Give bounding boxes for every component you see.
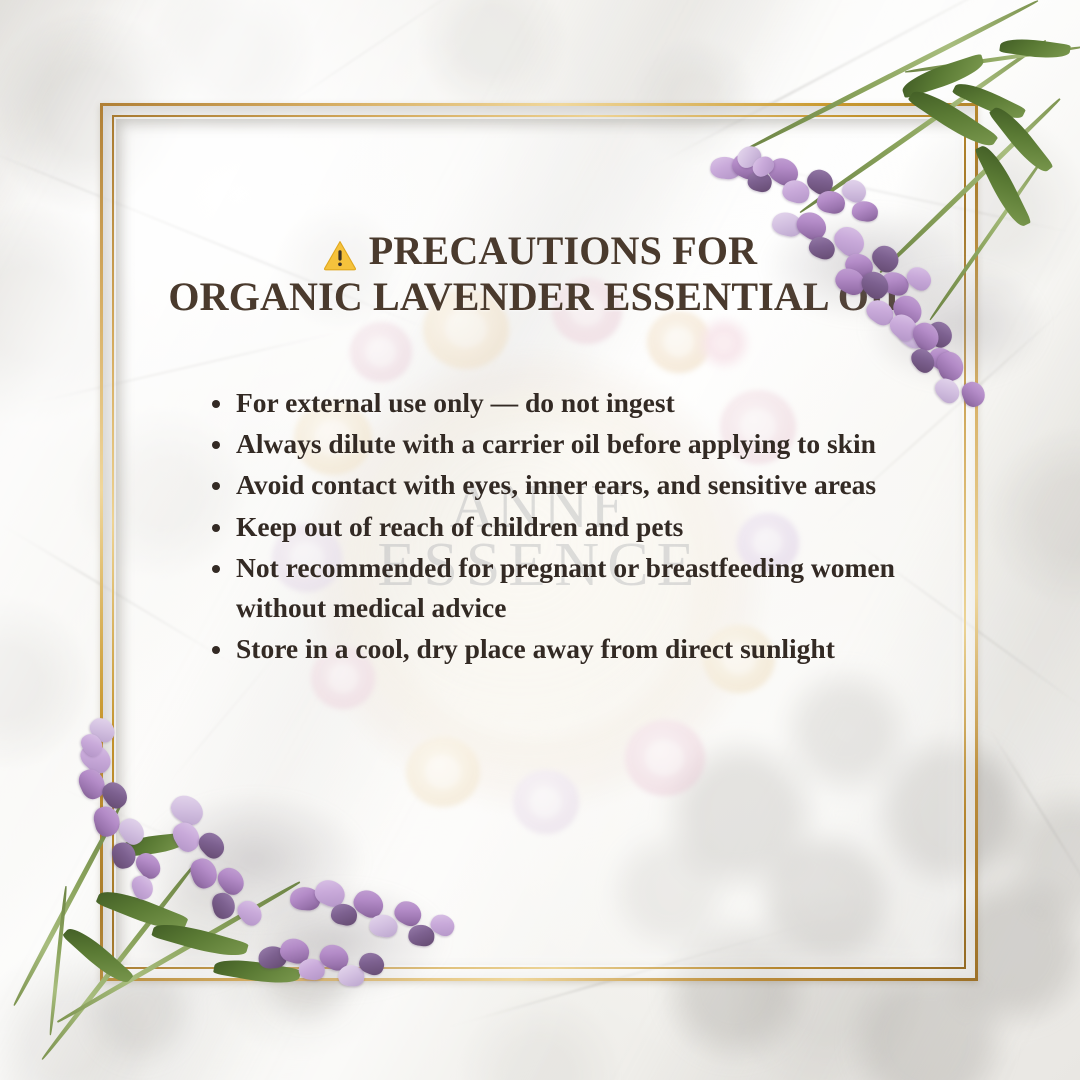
- list-item: For external use only — do not ingest: [212, 383, 930, 423]
- title-line-1-text: PRECAUTIONS FOR: [369, 228, 757, 274]
- poster-canvas: ANNE ESSENCE PRECAUTIONS FOR ORGANIC LAV…: [0, 0, 1080, 1080]
- list-item: Not recommended for pregnant or breastfe…: [212, 548, 930, 629]
- precautions-list: For external use only — do not ingest Al…: [140, 383, 940, 670]
- list-item: Always dilute with a carrier oil before …: [212, 424, 930, 464]
- warning-triangle-icon: [323, 235, 357, 267]
- title-line-2-text: ORGANIC LAVENDER ESSENTIAL OIL: [140, 274, 940, 320]
- page-title: PRECAUTIONS FOR ORGANIC LAVENDER ESSENTI…: [140, 150, 940, 321]
- card-content: PRECAUTIONS FOR ORGANIC LAVENDER ESSENTI…: [140, 150, 940, 940]
- list-item: Avoid contact with eyes, inner ears, and…: [212, 465, 930, 505]
- list-item: Keep out of reach of children and pets: [212, 507, 930, 547]
- list-item: Store in a cool, dry place away from dir…: [212, 629, 930, 669]
